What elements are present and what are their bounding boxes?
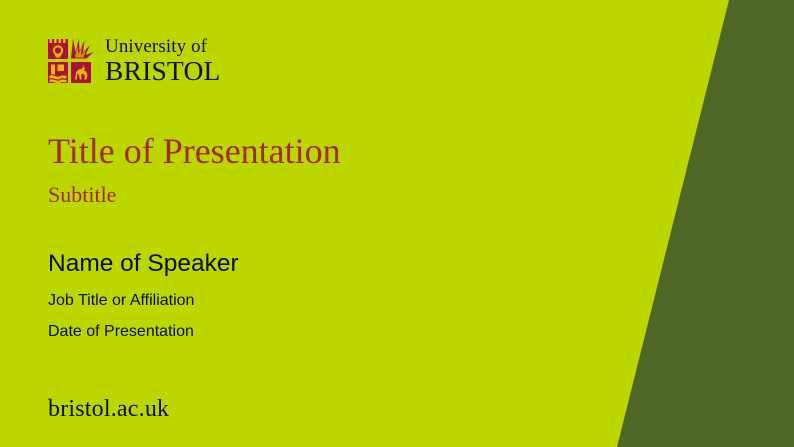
speaker-job-title: Job Title or Affiliation (48, 292, 239, 310)
presentation-date: Date of Presentation (48, 323, 239, 341)
footer-website-url: bristol.ac.uk (48, 396, 169, 422)
wordmark-line-university-of: University of (105, 37, 221, 56)
presentation-title: Title of Presentation (48, 132, 341, 171)
diagonal-accent-wedge (594, 0, 794, 447)
university-wordmark: University of BRISTOL (105, 37, 221, 85)
speaker-name: Name of Speaker (48, 251, 239, 278)
presentation-subtitle: Subtitle (48, 183, 341, 207)
university-crest-icon (48, 36, 96, 85)
title-block: Title of Presentation Subtitle (48, 132, 341, 207)
university-logo-lockup: University of BRISTOL (48, 36, 221, 85)
presentation-title-slide: University of BRISTOL Title of Presentat… (0, 0, 794, 447)
speaker-block: Name of Speaker Job Title or Affiliation… (48, 251, 239, 340)
wordmark-line-bristol: BRISTOL (105, 57, 221, 85)
